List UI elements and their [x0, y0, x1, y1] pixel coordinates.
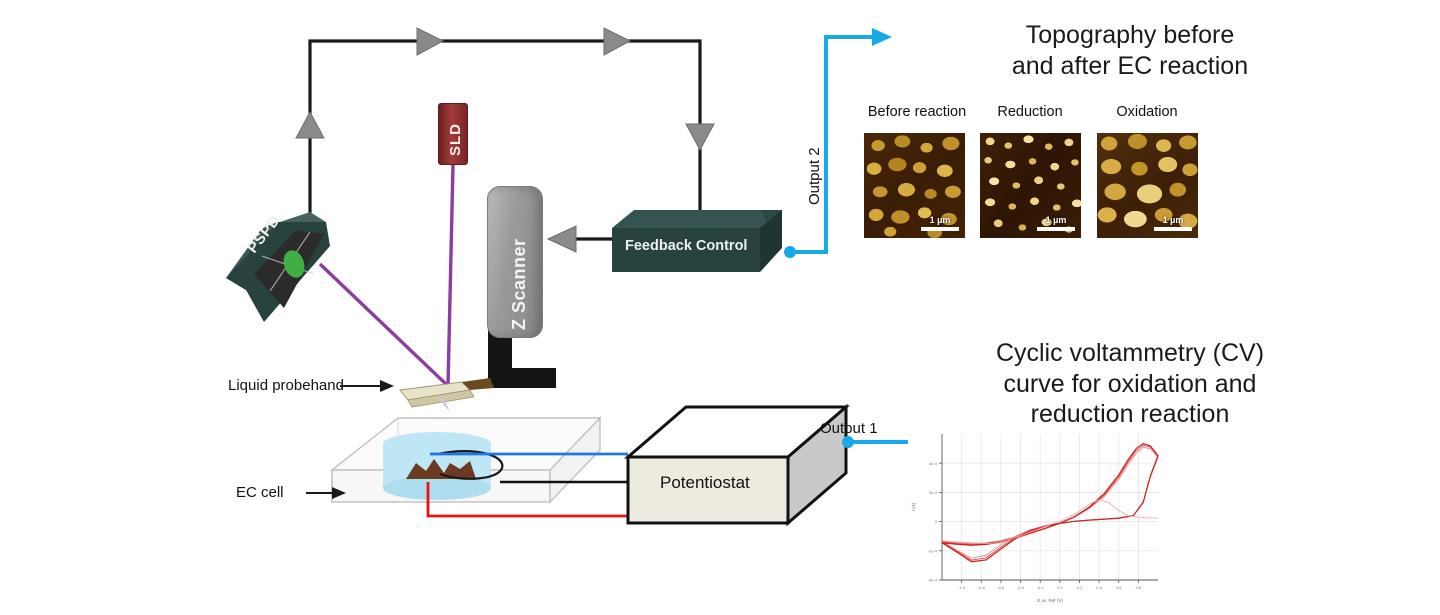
liquid-probehand-label: Liquid probehand: [228, 377, 344, 394]
afm-scalebar: 1 µm: [1154, 215, 1192, 231]
amplifier-triangle-left: [296, 112, 324, 138]
laser-incident-beam: [448, 165, 453, 386]
svg-text:-0.4: -0.4: [1017, 585, 1025, 590]
svg-text:0: 0: [935, 519, 938, 524]
afm-scalebar-text: 1 µm: [930, 215, 951, 225]
afm-scalebar-text: 1 µm: [1046, 215, 1067, 225]
cv-title: Cyclic voltammetry (CV) curve for oxidat…: [905, 338, 1355, 430]
potentiostat-box: [620, 395, 850, 530]
svg-text:I (A): I (A): [911, 502, 916, 511]
afm-image-reduction: 1 µm: [980, 133, 1081, 238]
afm-caption-before: Before reaction: [857, 104, 977, 120]
electrode-wires: [420, 448, 650, 544]
afm-scalebar-line: [1154, 227, 1192, 231]
svg-text:0.6: 0.6: [1116, 585, 1122, 590]
svg-text:4e-4: 4e-4: [929, 461, 938, 466]
afm-scalebar-text: 1 µm: [1163, 215, 1184, 225]
cv-chart: -1.0-0.8-0.6-0.4-0.20.00.20.40.60.8-4e-4…: [908, 428, 1164, 606]
figure-canvas: PSPD SLD Z Scanner Feedback Control Outp…: [0, 0, 1440, 615]
ec-cell-label: EC cell: [236, 484, 284, 501]
afm-caption-reduction: Reduction: [973, 104, 1087, 120]
afm-scalebar: 1 µm: [921, 215, 959, 231]
svg-text:0.8: 0.8: [1136, 585, 1142, 590]
svg-text:-0.8: -0.8: [978, 585, 986, 590]
afm-image-before: 1 µm: [864, 133, 965, 238]
feedback-control-label: Feedback Control: [625, 238, 747, 254]
svg-text:-0.6: -0.6: [997, 585, 1005, 590]
afm-scalebar: 1 µm: [1037, 215, 1075, 231]
amplifier-triangle-top-left: [417, 28, 443, 55]
amplifier-triangle-right: [686, 124, 714, 150]
afm-scalebar-line: [1037, 227, 1075, 231]
svg-text:0.4: 0.4: [1096, 585, 1102, 590]
svg-text:E vs. Ref (V): E vs. Ref (V): [1037, 598, 1063, 603]
reference-electrode-wire: [428, 482, 628, 516]
probehand-pointer-arrow: [340, 376, 400, 396]
svg-text:-2e-4: -2e-4: [928, 548, 938, 553]
afm-image-oxidation: 1 µm: [1097, 133, 1198, 238]
output1-label: Output 1: [820, 420, 878, 437]
potentiostat-label: Potentiostat: [660, 473, 750, 493]
svg-text:0.2: 0.2: [1077, 585, 1083, 590]
svg-text:-0.2: -0.2: [1037, 585, 1045, 590]
cv-chart-svg: -1.0-0.8-0.6-0.4-0.20.00.20.40.60.8-4e-4…: [908, 428, 1164, 606]
output2-arrowhead: [872, 28, 892, 46]
svg-text:-4e-4: -4e-4: [928, 578, 938, 583]
z-scanner-label: Z Scanner: [509, 238, 530, 330]
output2-node-dot: [784, 246, 796, 258]
svg-text:0.0: 0.0: [1057, 585, 1063, 590]
topography-title: Topography before and after EC reaction: [905, 20, 1355, 81]
svg-text:-1.0: -1.0: [958, 585, 966, 590]
ec-cell-pointer-arrow: [306, 483, 352, 503]
amplifier-triangle-top-right: [604, 28, 630, 55]
afm-caption-oxidation: Oxidation: [1090, 104, 1204, 120]
afm-scalebar-line: [921, 227, 959, 231]
output2-label: Output 2: [806, 147, 823, 205]
svg-text:2e-4: 2e-4: [929, 490, 938, 495]
